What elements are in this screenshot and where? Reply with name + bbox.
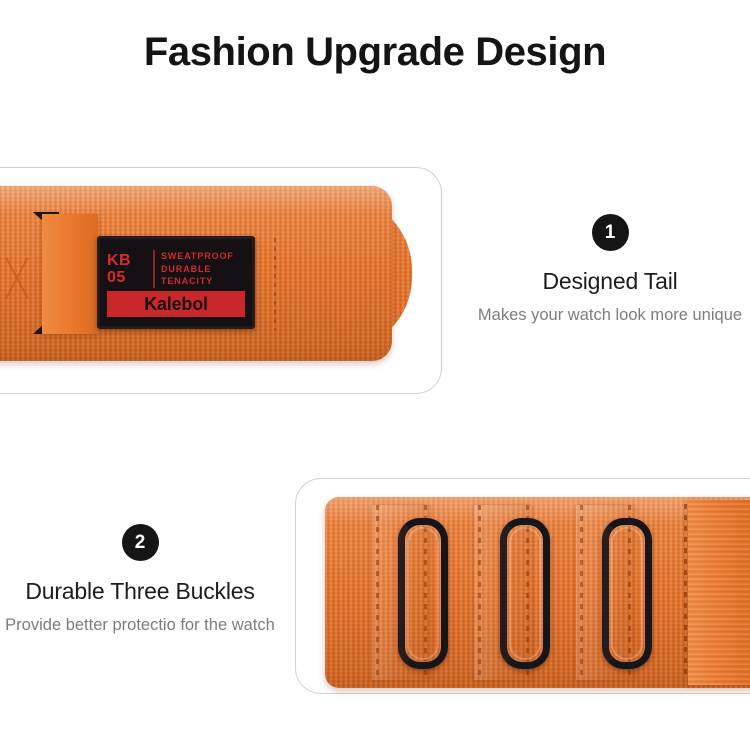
label-product-code: KB 05	[100, 252, 153, 286]
infographic-page: Fashion Upgrade Design KB 05 SWEATPROOF …	[0, 0, 750, 750]
feature-description-1: Makes your watch look more unique	[470, 304, 750, 327]
label-upper-row: KB 05 SWEATPROOF DURABLE TENACITY	[100, 243, 252, 295]
label-claims: SWEATPROOF DURABLE TENACITY	[161, 250, 234, 288]
buckle-loop-1	[398, 518, 448, 669]
strap-keeper-loop	[42, 214, 98, 334]
feature-number-badge-1: 1	[592, 214, 629, 251]
label-code-line-2: 05	[107, 269, 153, 286]
strap-fold-over-end	[688, 500, 750, 685]
cross-stitch-detail	[0, 232, 40, 322]
label-brand-name: Kalebol	[144, 295, 208, 313]
stitch-line-right	[274, 238, 276, 330]
feature-block-2: 2 Durable Three Buckles Provide better p…	[0, 524, 280, 637]
feature-block-1: 1 Designed Tail Makes your watch look mo…	[470, 214, 750, 327]
label-code-line-1: KB	[107, 252, 153, 269]
feature-title-1: Designed Tail	[470, 267, 750, 295]
buckle-loop-3	[602, 518, 652, 669]
buckle-stitch-left-3	[580, 505, 583, 680]
buckle-loop-2	[500, 518, 550, 669]
feature-number-badge-2: 2	[122, 524, 159, 561]
label-brand-bar: Kalebol	[107, 291, 245, 317]
feature-description-2: Provide better protectio for the watch	[0, 614, 280, 637]
strap-fold-stitch	[684, 504, 687, 680]
page-title: Fashion Upgrade Design	[0, 30, 750, 75]
buckle-stitch-left-2	[478, 505, 481, 680]
buckle-stitch-left-1	[376, 505, 379, 680]
label-divider	[153, 250, 155, 288]
brand-label-patch: KB 05 SWEATPROOF DURABLE TENACITY Kalebo…	[97, 236, 255, 329]
feature-title-2: Durable Three Buckles	[0, 577, 280, 605]
